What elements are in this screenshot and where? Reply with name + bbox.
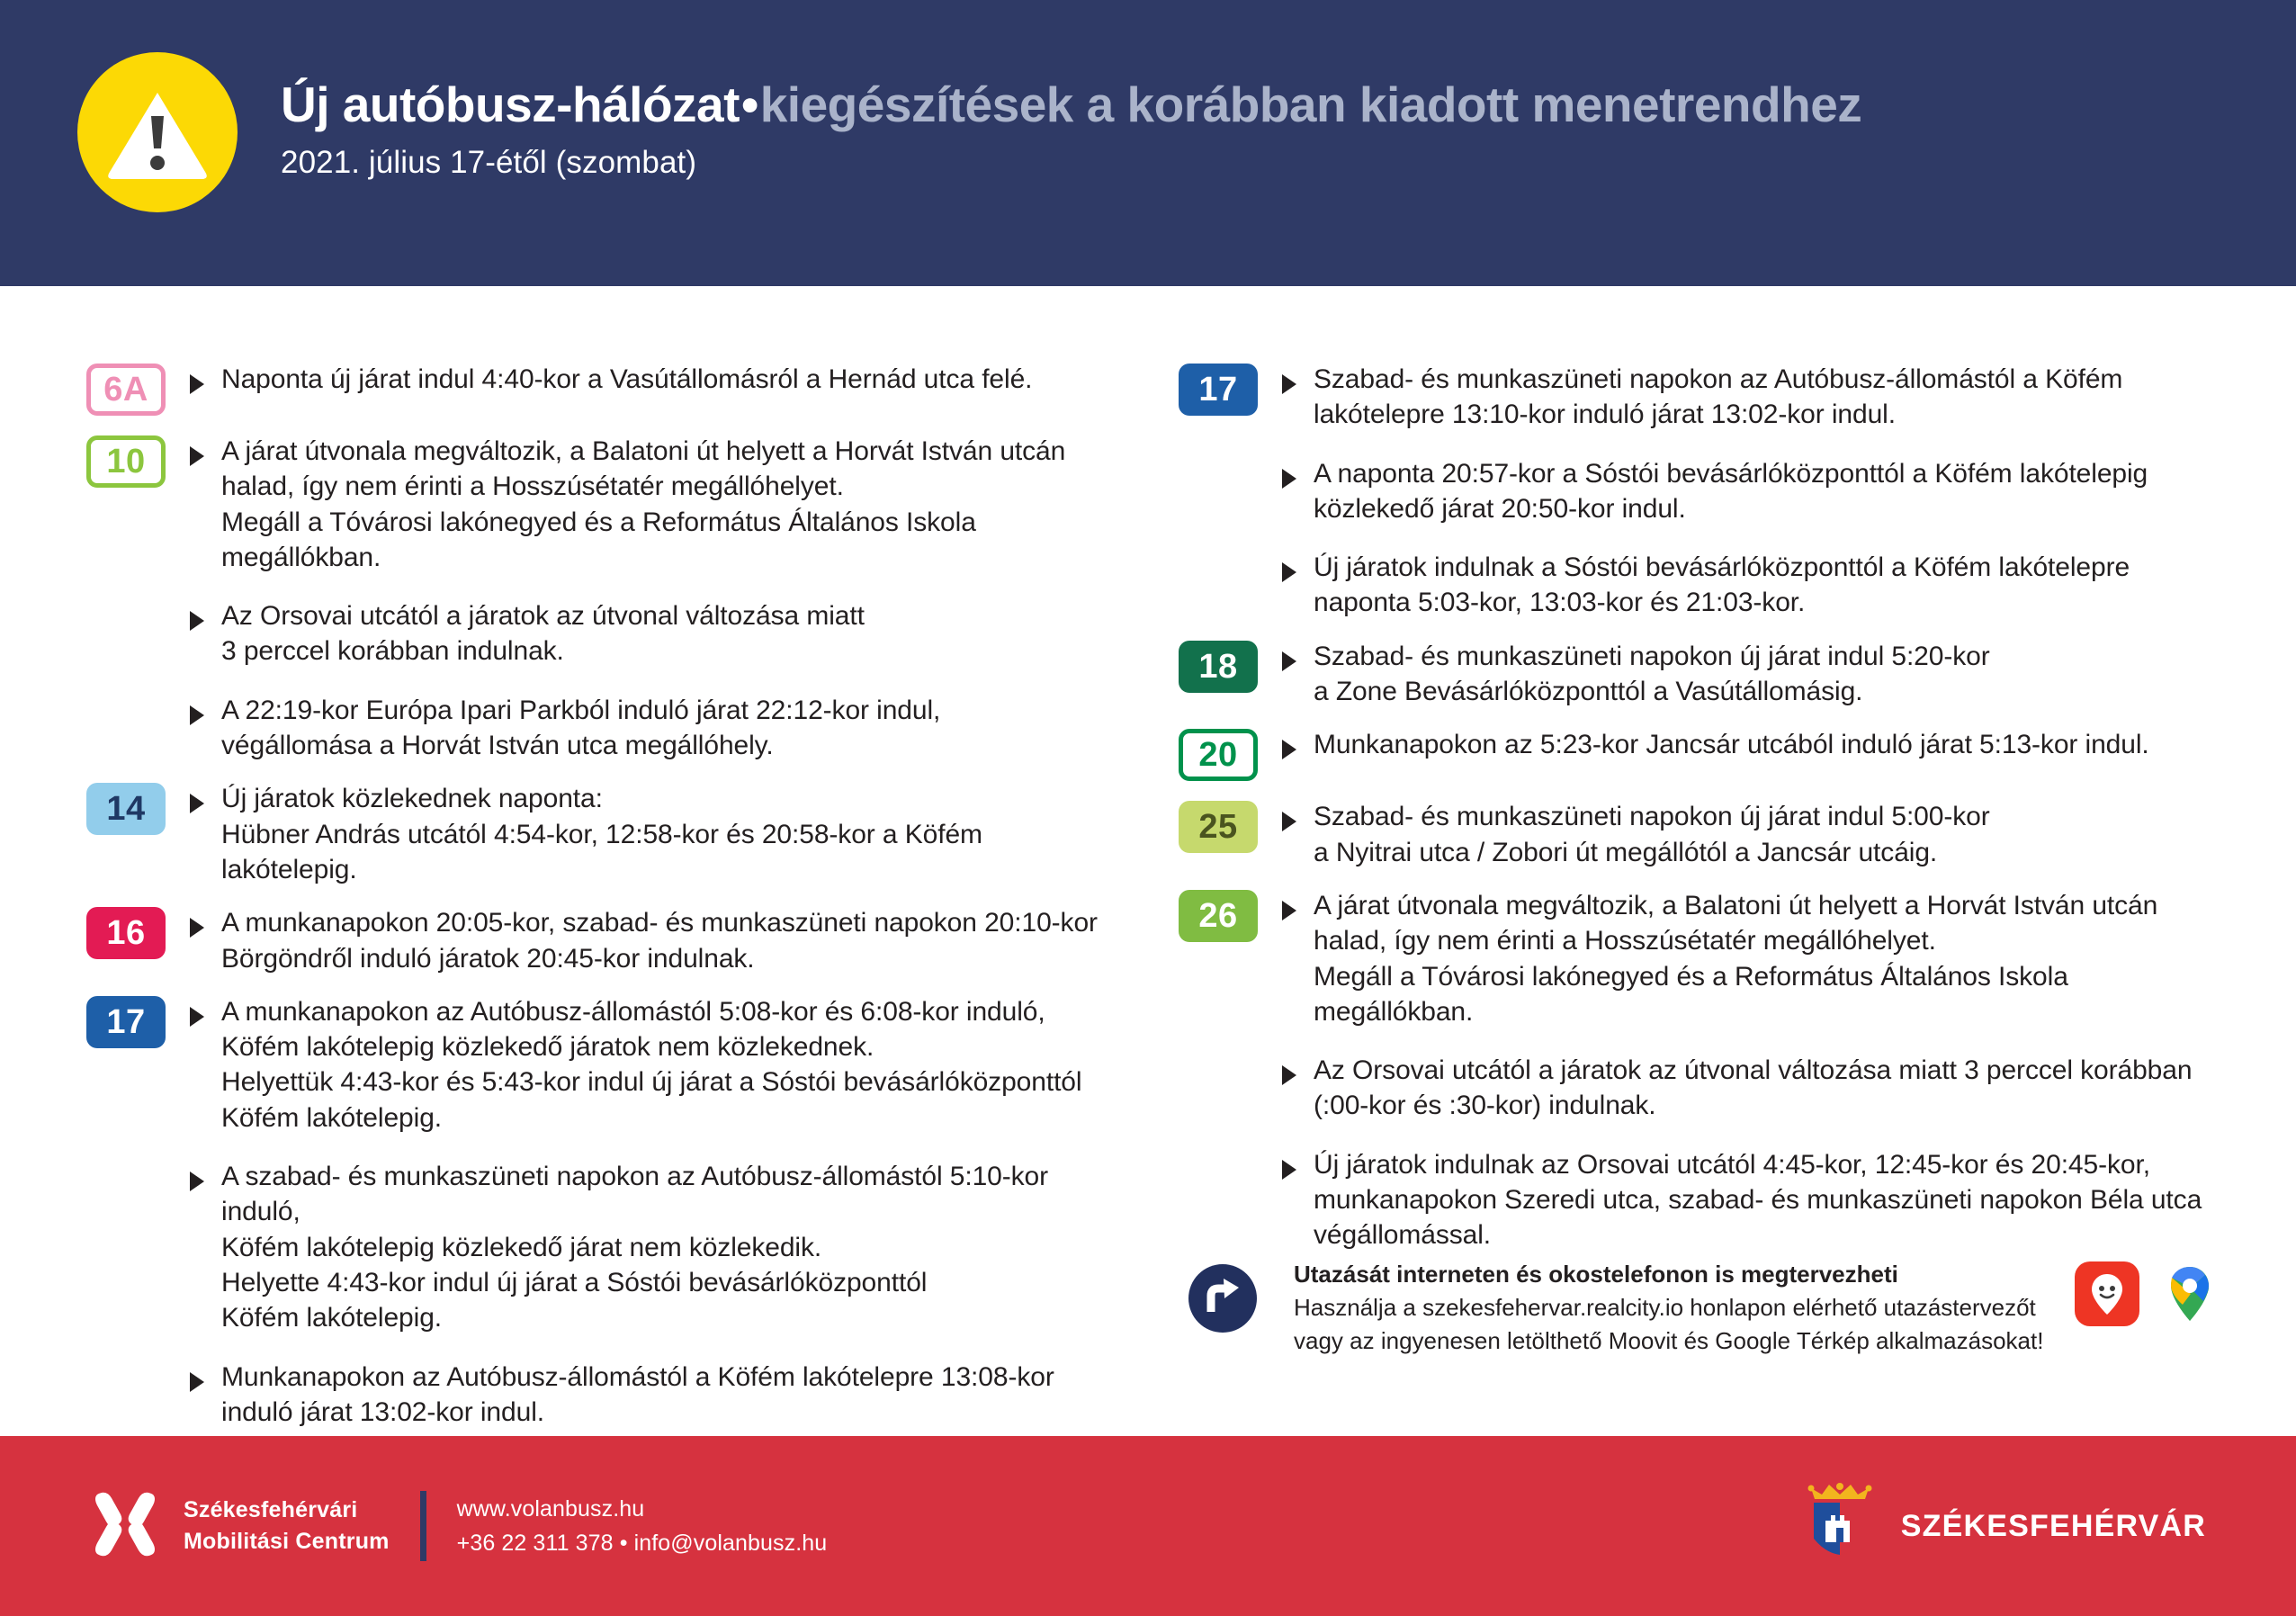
warning-triangle-glyph	[104, 89, 211, 183]
route-bullet: Új járatok indulnak a Sóstói bevásárlókö…	[1279, 550, 2233, 621]
bullet-arrow-icon	[187, 444, 207, 472]
bullet-arrow-icon	[1279, 650, 1299, 673]
app-icons	[2075, 1261, 2222, 1331]
szekesfehervar-coat-of-arms	[1802, 1483, 1878, 1570]
route-bullet: A 22:19-kor Európa Ipari Parkból induló …	[187, 693, 1125, 764]
route-group: 14Új járatok közlekednek naponta: Hübner…	[86, 781, 1125, 887]
route-bullet: Szabad- és munkaszüneti napokon új járat…	[1279, 639, 2233, 710]
journey-planner-arrow-icon	[1188, 1263, 1258, 1338]
route-bullet: Új járatok közlekednek naponta: Hübner A…	[187, 781, 1125, 887]
header-text: Új autóbusz-hálózat•kiegészítések a korá…	[281, 79, 1861, 181]
bullet-text: Új járatok indulnak a Sóstói bevásárlókö…	[1314, 550, 2130, 621]
bullet-text: A munkanapokon 20:05-kor, szabad- és mun…	[221, 905, 1098, 976]
route-bullet-list: Szabad- és munkaszüneti napokon új járat…	[1279, 799, 2233, 870]
route-badge-10[interactable]: 10	[86, 435, 166, 488]
footer-contact-info[interactable]: www.volanbusz.hu +36 22 311 378 • info@v…	[457, 1492, 828, 1560]
route-bullet: A munkanapokon 20:05-kor, szabad- és mun…	[187, 905, 1125, 976]
footer-left: Székesfehérvári Mobilitási Centrum www.v…	[86, 1486, 827, 1567]
bullet-arrow-icon	[1279, 561, 1299, 584]
route-group: 20Munkanapokon az 5:23-kor Jancsár utcáb…	[1179, 727, 2233, 781]
route-bullet-list: Új járatok közlekednek naponta: Hübner A…	[187, 781, 1125, 887]
bullet-text: Az Orsovai utcától a járatok az útvonal …	[1314, 1053, 2192, 1124]
route-badge-cell: 17	[1179, 362, 1279, 416]
route-bullet: A járat útvonala megváltozik, a Balatoni…	[187, 434, 1125, 575]
title-subtitle-part: kiegészítések a korábban kiadott menetre…	[760, 76, 1862, 132]
title-main: Új autóbusz-hálózat	[281, 76, 740, 132]
bullet-arrow-icon	[1279, 1064, 1299, 1091]
route-bullet: Munkanapokon az 5:23-kor Jancsár utcából…	[1279, 727, 2233, 766]
route-badge-cell: 18	[1179, 639, 1279, 693]
promo-title: Utazását interneten és okostelefonon is …	[1294, 1258, 2058, 1291]
promo-text: Utazását interneten és okostelefonon is …	[1294, 1258, 2058, 1359]
promo-line-1: Használja a szekesfehervar.realcity.io h…	[1294, 1291, 2058, 1324]
bullet-text: A munkanapokon az Autóbusz-állomástól 5:…	[221, 994, 1081, 1136]
bullet-text: Munkanapokon az Autóbusz-állomástól a Kö…	[221, 1360, 1054, 1431]
route-group: 18Szabad- és munkaszüneti napokon új jár…	[1179, 639, 2233, 710]
route-bullet: A járat útvonala megváltozik, a Balatoni…	[1279, 888, 2233, 1029]
route-bullet: Az Orsovai utcától a járatok az útvonal …	[187, 598, 1125, 669]
bullet-text: A szabad- és munkaszüneti napokon az Aut…	[221, 1159, 1125, 1335]
route-group: 16A munkanapokon 20:05-kor, szabad- és m…	[86, 905, 1125, 976]
bullet-arrow-icon	[187, 704, 207, 727]
route-bullet: A munkanapokon az Autóbusz-állomástól 5:…	[187, 994, 1125, 1136]
route-badge-cell: 14	[86, 781, 187, 835]
bullet-arrow-icon	[187, 609, 207, 637]
effective-date: 2021. július 17-étől (szombat)	[281, 145, 1861, 181]
bullet-arrow-icon	[187, 916, 207, 939]
route-badge-17[interactable]: 17	[1179, 364, 1258, 416]
bullet-text: Új járatok indulnak az Orsovai utcától 4…	[1314, 1147, 2202, 1253]
bullet-arrow-icon	[187, 792, 207, 820]
route-number: 14	[106, 792, 145, 826]
route-badge-cell: 25	[1179, 799, 1279, 853]
bullet-arrow-icon	[1279, 373, 1299, 396]
route-badge-25[interactable]: 25	[1179, 801, 1258, 853]
bullet-arrow-icon	[187, 792, 207, 815]
footer-divider	[420, 1491, 426, 1561]
route-bullet: Naponta új járat indul 4:40-kor a Vasútá…	[187, 362, 1125, 400]
bullet-arrow-icon	[1279, 373, 1299, 400]
route-bullet-list: A munkanapokon 20:05-kor, szabad- és mun…	[187, 905, 1125, 976]
bullet-arrow-icon	[1279, 1158, 1299, 1186]
bullet-arrow-icon	[1279, 561, 1299, 588]
route-group: 17Szabad- és munkaszüneti napokon az Aut…	[1179, 362, 2233, 621]
bullet-text: Új járatok közlekednek naponta: Hübner A…	[221, 781, 1125, 887]
route-bullet-list: A járat útvonala megváltozik, a Balatoni…	[1279, 888, 2233, 1253]
bullet-arrow-icon	[1279, 1064, 1299, 1087]
route-number: 6A	[103, 373, 148, 407]
bullet-text: Az Orsovai utcától a járatok az útvonal …	[221, 598, 865, 669]
route-bullet: Az Orsovai utcától a járatok az útvonal …	[1279, 1053, 2233, 1124]
bullet-arrow-icon	[1279, 467, 1299, 495]
route-badge-20[interactable]: 20	[1179, 729, 1258, 781]
route-badge-26[interactable]: 26	[1179, 890, 1258, 942]
route-bullet: Szabad- és munkaszüneti napokon az Autób…	[1279, 362, 2233, 433]
bullet-text: Szabad- és munkaszüneti napokon új járat…	[1314, 799, 1990, 870]
bullet-arrow-icon	[1279, 738, 1299, 761]
bullet-arrow-icon	[187, 704, 207, 732]
bullet-arrow-icon	[187, 373, 207, 400]
warning-triangle-icon	[77, 52, 238, 212]
route-bullet-list: A járat útvonala megváltozik, a Balatoni…	[187, 434, 1125, 763]
route-number: 10	[106, 444, 145, 479]
route-badge-6A[interactable]: 6A	[86, 364, 166, 416]
route-number: 17	[106, 1005, 145, 1039]
journey-planner-promo: Utazását interneten és okostelefonon is …	[1188, 1258, 2222, 1359]
google-maps-app-icon[interactable]	[2157, 1261, 2222, 1331]
route-group: 25Szabad- és munkaszüneti napokon új jár…	[1179, 799, 2233, 870]
route-bullet: Új járatok indulnak az Orsovai utcától 4…	[1279, 1147, 2233, 1253]
bullet-text: A járat útvonala megváltozik, a Balatoni…	[221, 434, 1125, 575]
route-badge-cell: 26	[1179, 888, 1279, 942]
bullet-text: Munkanapokon az 5:23-kor Jancsár utcából…	[1314, 727, 2149, 762]
bullet-text: Naponta új járat indul 4:40-kor a Vasútá…	[221, 362, 1032, 397]
route-badge-cell: 17	[86, 994, 187, 1048]
bullet-arrow-icon	[1279, 810, 1299, 838]
bullet-arrow-icon	[187, 1005, 207, 1028]
bullet-arrow-icon	[187, 1370, 207, 1398]
bullet-arrow-icon	[1279, 738, 1299, 766]
footer-right: SZÉKESFEHÉRVÁR	[1802, 1483, 2206, 1570]
route-badge-cell: 6A	[86, 362, 187, 416]
bullet-arrow-icon	[187, 1170, 207, 1193]
bullet-arrow-icon	[1279, 467, 1299, 490]
route-group: 26A járat útvonala megváltozik, a Balato…	[1179, 888, 2233, 1253]
bullet-arrow-icon	[187, 609, 207, 633]
route-group: 10A járat útvonala megváltozik, a Balato…	[86, 434, 1125, 763]
route-bullet-list: Szabad- és munkaszüneti napokon az Autób…	[1279, 362, 2233, 621]
title-bullet-separator: •	[740, 76, 760, 132]
organisation-name: Székesfehérvári Mobilitási Centrum	[184, 1495, 390, 1558]
route-badge-17[interactable]: 17	[86, 996, 166, 1048]
moovit-app-icon[interactable]	[2075, 1261, 2139, 1331]
route-number: 16	[106, 916, 145, 950]
bullet-text: Szabad- és munkaszüneti napokon az Autób…	[1314, 362, 2122, 433]
route-bullet: Munkanapokon az Autóbusz-állomástól a Kö…	[187, 1360, 1125, 1431]
bullet-arrow-icon	[1279, 899, 1299, 927]
route-badge-14[interactable]: 14	[86, 783, 166, 835]
poster: Új autóbusz-hálózat•kiegészítések a korá…	[0, 0, 2296, 1616]
bullet-text: A naponta 20:57-kor a Sóstói bevásárlókö…	[1314, 456, 2148, 527]
bullet-arrow-icon	[187, 1370, 207, 1394]
page-title: Új autóbusz-hálózat•kiegészítések a korá…	[281, 79, 1861, 130]
bullet-text: A 22:19-kor Európa Ipari Parkból induló …	[221, 693, 940, 764]
route-number: 20	[1198, 738, 1237, 772]
bullet-arrow-icon	[1279, 810, 1299, 833]
bullet-arrow-icon	[187, 444, 207, 468]
route-number: 25	[1198, 810, 1237, 844]
bullet-arrow-icon	[1279, 650, 1299, 678]
left-column: 6ANaponta új járat indul 4:40-kor a Vasú…	[0, 286, 1161, 1436]
bullet-text: A járat útvonala megváltozik, a Balatoni…	[1314, 888, 2233, 1029]
route-badge-cell: 20	[1179, 727, 1279, 781]
route-number: 26	[1198, 899, 1237, 933]
route-badge-16[interactable]: 16	[86, 907, 166, 959]
city-name: SZÉKESFEHÉRVÁR	[1901, 1509, 2206, 1544]
route-bullet-list: Naponta új járat indul 4:40-kor a Vasútá…	[187, 362, 1125, 400]
route-bullet: A naponta 20:57-kor a Sóstói bevásárlókö…	[1279, 456, 2233, 527]
bullet-text: Szabad- és munkaszüneti napokon új járat…	[1314, 639, 1990, 710]
route-badge-cell: 10	[86, 434, 187, 488]
route-number: 18	[1198, 650, 1237, 684]
page-header: Új autóbusz-hálózat•kiegészítések a korá…	[0, 0, 2296, 286]
warning-icon-wrap	[77, 52, 238, 212]
mobility-centre-logo	[86, 1486, 164, 1567]
page-footer: Székesfehérvári Mobilitási Centrum www.v…	[0, 1436, 2296, 1616]
route-bullet: Szabad- és munkaszüneti napokon új járat…	[1279, 799, 2233, 870]
route-bullet-list: Szabad- és munkaszüneti napokon új járat…	[1279, 639, 2233, 710]
route-group: 6ANaponta új járat indul 4:40-kor a Vasú…	[86, 362, 1125, 416]
bullet-arrow-icon	[1279, 899, 1299, 922]
route-badge-18[interactable]: 18	[1179, 641, 1258, 693]
route-badge-cell: 16	[86, 905, 187, 959]
bullet-arrow-icon	[1279, 1158, 1299, 1181]
bullet-arrow-icon	[187, 1005, 207, 1033]
bullet-arrow-icon	[187, 916, 207, 944]
route-bullet: A szabad- és munkaszüneti napokon az Aut…	[187, 1159, 1125, 1335]
route-number: 17	[1198, 373, 1237, 407]
route-bullet-list: A munkanapokon az Autóbusz-állomástól 5:…	[187, 994, 1125, 1430]
bullet-arrow-icon	[187, 1170, 207, 1198]
bullet-arrow-icon	[187, 373, 207, 396]
route-group: 17A munkanapokon az Autóbusz-állomástól …	[86, 994, 1125, 1430]
promo-line-2: vagy az ingyenesen letölthető Moovit és …	[1294, 1324, 2058, 1358]
route-bullet-list: Munkanapokon az 5:23-kor Jancsár utcából…	[1279, 727, 2233, 766]
